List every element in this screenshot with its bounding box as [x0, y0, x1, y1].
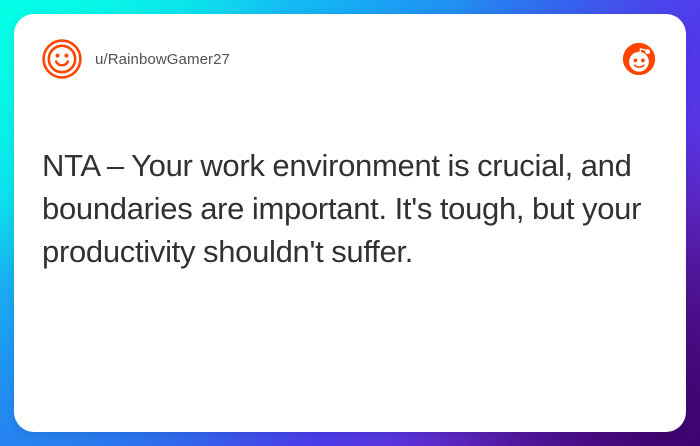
author-username: u/RainbowGamer27 [95, 51, 230, 68]
comment-header: u/RainbowGamer27 [42, 36, 658, 82]
reddit-comment-card: u/RainbowGamer27 NTA – Your work environ… [14, 14, 686, 432]
comment-body: NTA – Your work environment is crucial, … [42, 82, 658, 406]
reddit-snoo-icon[interactable] [622, 42, 658, 76]
author-block[interactable]: u/RainbowGamer27 [42, 39, 230, 79]
comment-text: NTA – Your work environment is crucial, … [42, 144, 658, 273]
gradient-background: u/RainbowGamer27 NTA – Your work environ… [0, 0, 700, 446]
smiley-face-icon [42, 39, 82, 79]
